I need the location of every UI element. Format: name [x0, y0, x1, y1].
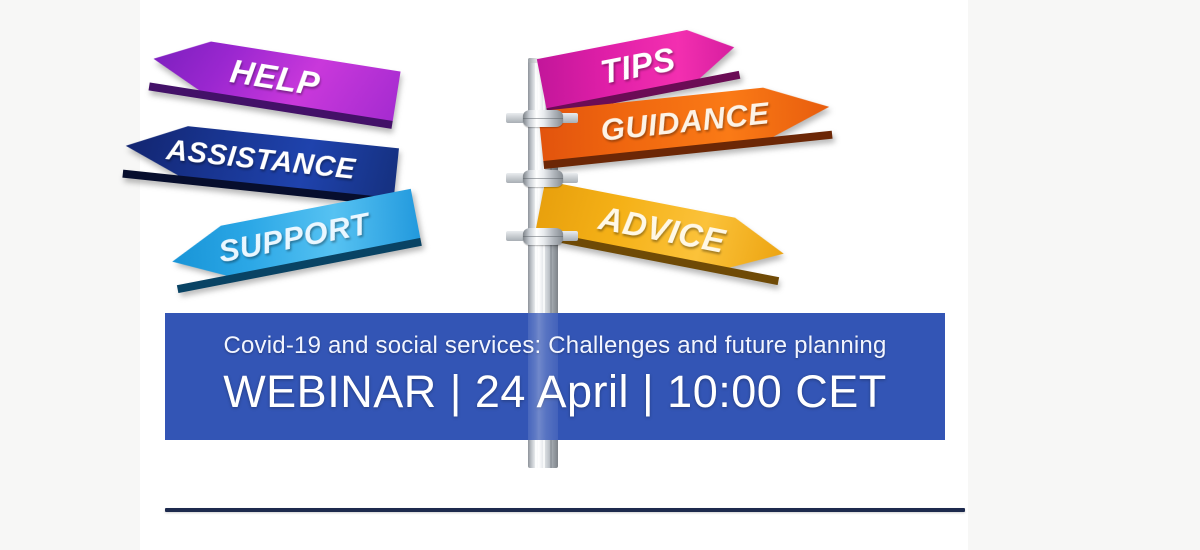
- left-gutter: [0, 0, 140, 550]
- pole-collar: [523, 110, 563, 127]
- sign-plate: SUPPORT: [167, 189, 420, 287]
- sign-assistance[interactable]: ASSISTANCE: [123, 120, 399, 200]
- promo-canvas: HELP TIPS GUIDANCE: [0, 0, 1200, 550]
- sign-mount-stub: [506, 113, 524, 123]
- pole-collar: [523, 228, 563, 245]
- sign-mount-stub: [506, 231, 524, 241]
- content-sheet: HELP TIPS GUIDANCE: [140, 0, 968, 550]
- sign-help[interactable]: HELP: [149, 33, 400, 123]
- pole-through-banner: [528, 313, 558, 440]
- sign-advice[interactable]: ADVICE: [535, 181, 788, 279]
- bottom-divider: [165, 508, 965, 512]
- pole-collar: [523, 170, 563, 187]
- sign-support[interactable]: SUPPORT: [167, 189, 420, 287]
- sign-mount-stub: [506, 173, 524, 183]
- right-gutter: [968, 0, 1200, 550]
- sign-plate: ADVICE: [535, 181, 788, 279]
